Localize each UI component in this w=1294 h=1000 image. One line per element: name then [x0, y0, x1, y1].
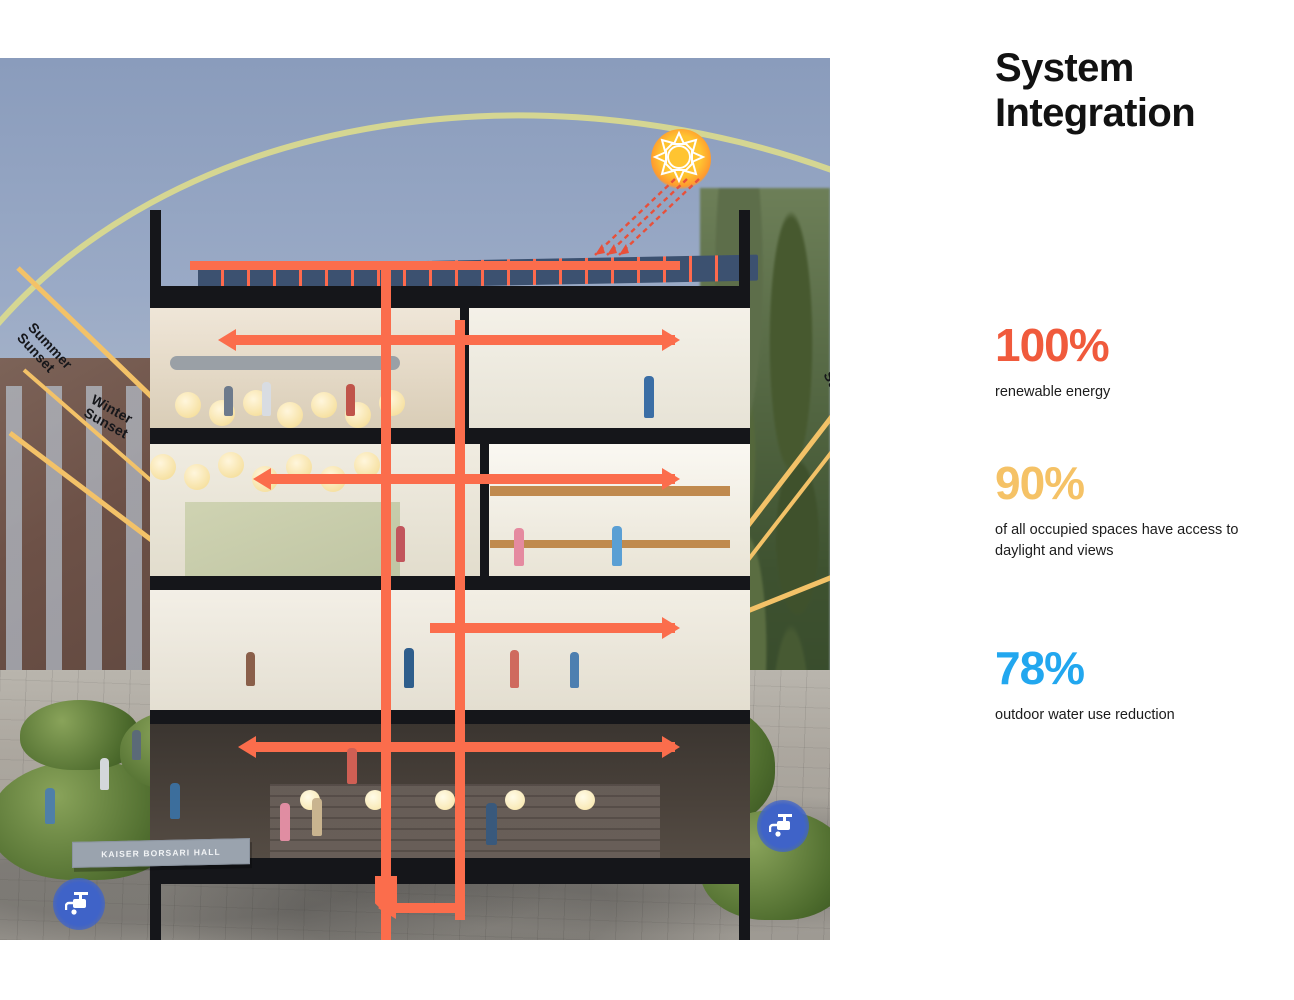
water-faucet-icon: [757, 800, 809, 852]
floor-slab-3: [150, 428, 750, 444]
stat-value: 78%: [995, 645, 1275, 691]
building-section: [150, 210, 750, 940]
faucet-glyph: [65, 891, 93, 917]
flow-arrow-left: [253, 468, 271, 490]
flow-arrow-left: [218, 329, 236, 351]
person-figure: [246, 652, 255, 686]
person-figure: [224, 386, 233, 416]
stat-renewable-energy: 100% renewable energy: [995, 322, 1275, 403]
person-figure: [280, 803, 290, 841]
person-figure: [45, 788, 55, 824]
person-figure: [132, 730, 141, 760]
stat-water-reduction: 78% outdoor water use reduction: [995, 645, 1275, 726]
stat-value: 90%: [995, 460, 1275, 506]
stat-daylight-access: 90% of all occupied spaces have access t…: [995, 460, 1275, 562]
person-figure: [170, 783, 180, 819]
pv-collector-line: [190, 261, 680, 270]
page-title-line-2: Integration: [995, 91, 1285, 136]
faucet-glyph: [769, 813, 797, 839]
person-figure: [396, 526, 405, 562]
person-figure: [404, 648, 414, 688]
secondary-riser: [455, 320, 465, 920]
flow-arrow-right: [662, 329, 680, 351]
stat-description: outdoor water use reduction: [995, 705, 1275, 726]
stat-description: renewable energy: [995, 382, 1275, 403]
person-figure: [262, 382, 271, 416]
floor-slab-2: [150, 576, 750, 590]
person-figure: [347, 748, 357, 784]
stat-value: 100%: [995, 322, 1275, 368]
floor-1-interior: [150, 590, 750, 710]
stats-panel: System Integration 100% renewable energy…: [995, 0, 1294, 1000]
person-figure: [346, 384, 355, 416]
person-figure: [514, 528, 524, 566]
flow-arrow-left: [238, 736, 256, 758]
flow-arrow-up: [375, 936, 397, 940]
floor-2-interior: [150, 444, 750, 576]
floor-3-interior: [150, 308, 750, 428]
person-figure: [644, 376, 654, 418]
person-figure: [486, 803, 497, 845]
page-root: KAISER BORSARI HALL Summer Sunset Winter…: [0, 0, 1294, 1000]
water-faucet-icon-2: [53, 878, 105, 930]
person-figure: [612, 526, 622, 566]
page-title-line-1: System: [995, 46, 1285, 91]
person-figure: [312, 798, 322, 836]
level2-distribution: [270, 474, 675, 484]
stat-description: of all occupied spaces have access to da…: [995, 520, 1275, 562]
flow-arrow-right: [662, 617, 680, 639]
building-sign: KAISER BORSARI HALL: [72, 838, 250, 868]
level3-distribution: [235, 335, 675, 345]
roof-slab: [150, 286, 750, 308]
floor-slab-1: [150, 710, 750, 724]
person-figure: [570, 652, 579, 688]
flow-arrow-right: [662, 736, 680, 758]
main-riser: [381, 265, 391, 940]
flow-arrow-right: [662, 468, 680, 490]
level1-distribution: [430, 623, 675, 633]
building-section-illustration: KAISER BORSARI HALL Summer Sunset Winter…: [0, 58, 830, 940]
building-sign-label: KAISER BORSARI HALL: [101, 847, 221, 860]
person-figure: [510, 650, 519, 688]
plaza-return-line: [388, 903, 458, 913]
person-figure: [100, 758, 109, 790]
ground-distribution: [255, 742, 675, 752]
page-title: System Integration: [995, 46, 1285, 136]
